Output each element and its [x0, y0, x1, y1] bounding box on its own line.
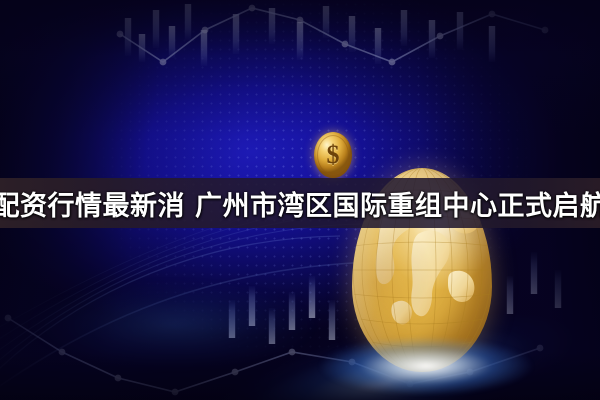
- dollar-sign-glyph: $: [314, 132, 352, 178]
- headline-band: 配资行情最新消 广州市湾区国际重组中心正式启航: [0, 178, 600, 228]
- banner-image: $: [0, 0, 600, 400]
- dollar-coin-icon: $: [314, 132, 352, 178]
- page-title: 配资行情最新消 广州市湾区国际重组中心正式启航: [0, 184, 600, 223]
